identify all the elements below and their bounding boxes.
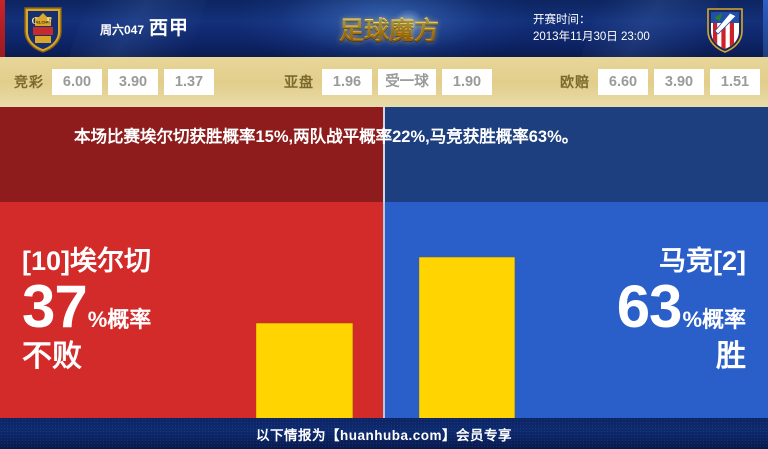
odds-group-jingcai: 竞彩 6.00 3.90 1.37 [14, 69, 214, 95]
match-league-label: 西甲 [149, 13, 189, 40]
odds-group-european: 欧赔 6.60 3.90 1.51 [560, 69, 760, 95]
chart-bar-home [256, 323, 353, 418]
odds-cell-jingcai-home[interactable]: 6.00 [52, 69, 102, 95]
elche-cf-crest-icon: C F ELCHE [18, 4, 68, 54]
banner-center-divider [383, 107, 385, 202]
chart-bar-away [419, 257, 515, 418]
brand-logo: 足球魔方 [328, 10, 450, 48]
match-title: 周六047 西甲 [100, 13, 189, 40]
kickoff-time: 2013年11月30日 23:00 [533, 29, 650, 46]
away-outcome-label: 胜 [716, 338, 746, 376]
svg-text:ELCHE: ELCHE [36, 20, 50, 25]
kickoff-info: 开赛时间： 2013年11月30日 23:00 [533, 12, 650, 46]
atletico-madrid-crest-icon [700, 4, 750, 54]
odds-cell-european-draw[interactable]: 3.90 [654, 69, 704, 95]
match-header: C F ELCHE 周六047 西甲 足球魔方 开赛时间： 2013年11月30… [0, 0, 768, 57]
odds-cell-asian-line[interactable]: 受一球 [378, 69, 436, 95]
home-probability-value: 37 [22, 276, 87, 338]
home-outcome-label: 不败 [22, 338, 82, 376]
home-probability-suffix: %概率 [88, 302, 152, 334]
home-probability: 37 %概率 [22, 276, 151, 338]
prediction-summary-text: 本场比赛埃尔切获胜概率15%,两队战平概率22%,马竞获胜概率63%。 [74, 123, 702, 152]
odds-label-european: 欧赔 [560, 72, 590, 92]
away-probability: 63 %概率 [617, 276, 746, 338]
odds-label-asian-handicap: 亚盘 [284, 72, 314, 92]
kickoff-label: 开赛时间： [533, 12, 650, 29]
away-probability-suffix: %概率 [682, 302, 746, 334]
footer-bar: 以下情报为【huanhuba.com】会员专享 [0, 418, 768, 449]
home-team-panel: [10]埃尔切 37 %概率 不败 [22, 202, 252, 418]
odds-cell-european-home[interactable]: 6.60 [598, 69, 648, 95]
odds-cell-jingcai-draw[interactable]: 3.90 [108, 69, 158, 95]
odds-bar: 竞彩 6.00 3.90 1.37 亚盘 1.96 受一球 1.90 欧赔 6.… [0, 57, 768, 107]
odds-group-asian-handicap: 亚盘 1.96 受一球 1.90 [284, 69, 492, 95]
header-accent-bar-right [763, 0, 768, 57]
brand-logo-text: 足球魔方 [339, 11, 439, 47]
football-prediction-infographic: C F ELCHE 周六047 西甲 足球魔方 开赛时间： 2013年11月30… [0, 0, 768, 449]
odds-cell-asian-away[interactable]: 1.90 [442, 69, 492, 95]
match-round-label: 周六047 [100, 21, 144, 38]
odds-cell-jingcai-away[interactable]: 1.37 [164, 69, 214, 95]
header-accent-bar-left [0, 0, 5, 57]
odds-cell-european-away[interactable]: 1.51 [710, 69, 760, 95]
away-team-panel: 马竞[2] 63 %概率 胜 [516, 202, 746, 418]
prediction-banner-right-bg [384, 107, 768, 202]
footer-membership-notice: 以下情报为【huanhuba.com】会员专享 [256, 424, 512, 444]
away-probability-value: 63 [617, 276, 682, 338]
odds-cell-asian-home[interactable]: 1.96 [322, 69, 372, 95]
prediction-banner-left-bg [0, 107, 384, 202]
odds-label-jingcai: 竞彩 [14, 72, 44, 92]
